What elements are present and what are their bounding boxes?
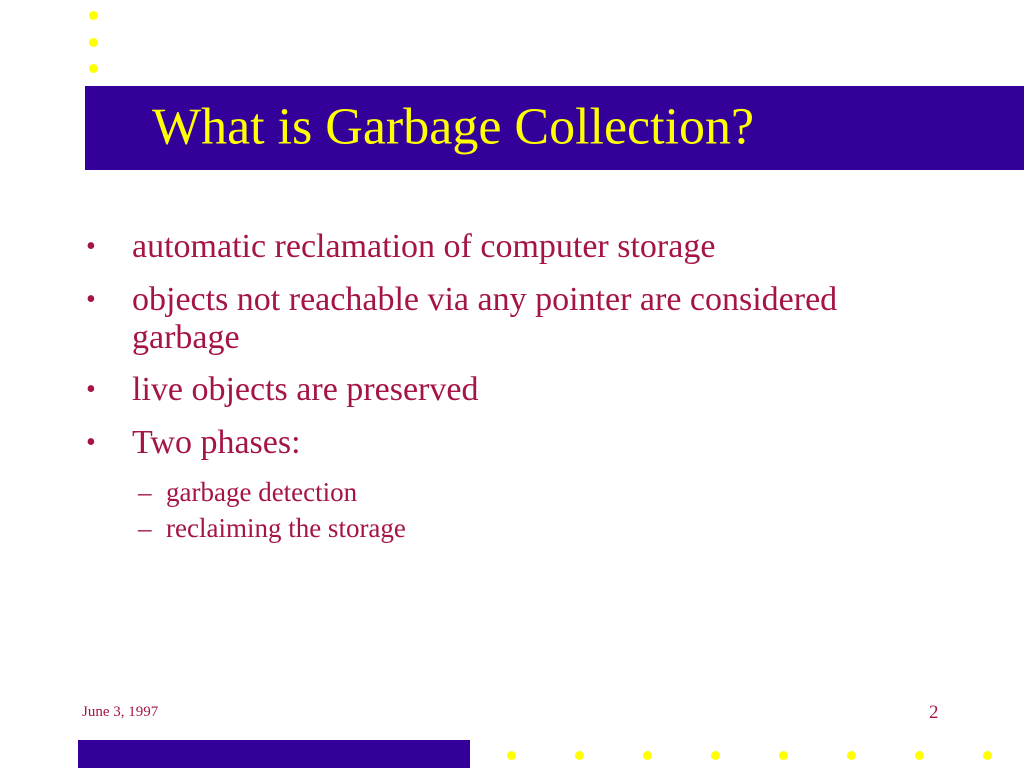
- decorative-dot-icon: [575, 751, 584, 760]
- bullet-item: • Two phases:: [78, 424, 978, 463]
- decorative-dot-icon: [89, 64, 98, 73]
- sub-bullet-text: garbage detection: [166, 477, 357, 508]
- decorative-dot-icon: [847, 751, 856, 760]
- slide-body: • automatic reclamation of computer stor…: [78, 228, 978, 549]
- bullet-item: • live objects are preserved: [78, 371, 978, 410]
- bullet-text: live objects are preserved: [132, 371, 912, 409]
- dash-marker-icon: –: [138, 477, 166, 508]
- title-band: What is Garbage Collection?: [85, 86, 1024, 170]
- decorative-dot-icon: [711, 751, 720, 760]
- footer-accent-bar: [78, 740, 470, 768]
- sub-bullet-item: – reclaiming the storage: [138, 513, 978, 544]
- sub-bullet-item: – garbage detection: [138, 477, 978, 508]
- decorative-dot-icon: [779, 751, 788, 760]
- footer-page-number: 2: [929, 703, 939, 722]
- bullet-marker-icon: •: [78, 424, 132, 463]
- decorative-dot-icon: [643, 751, 652, 760]
- bullet-text: Two phases:: [132, 424, 912, 462]
- decorative-dot-icon: [89, 38, 98, 47]
- bullet-text: objects not reachable via any pointer ar…: [132, 281, 912, 358]
- bullet-item: • objects not reachable via any pointer …: [78, 281, 978, 358]
- decorative-dot-icon: [507, 751, 516, 760]
- slide-title: What is Garbage Collection?: [152, 101, 754, 156]
- dash-marker-icon: –: [138, 513, 166, 544]
- decorative-dot-icon: [983, 751, 992, 760]
- bullet-item: • automatic reclamation of computer stor…: [78, 228, 978, 267]
- sub-bullet-text: reclaiming the storage: [166, 513, 406, 544]
- bullet-marker-icon: •: [78, 281, 132, 320]
- footer-date: June 3, 1997: [82, 705, 158, 720]
- slide-canvas: What is Garbage Collection? • automatic …: [0, 0, 1024, 768]
- decorative-dot-icon: [89, 11, 98, 20]
- bullet-text: automatic reclamation of computer storag…: [132, 228, 912, 266]
- bullet-marker-icon: •: [78, 371, 132, 410]
- bullet-marker-icon: •: [78, 228, 132, 267]
- sub-bullet-list: – garbage detection – reclaiming the sto…: [78, 477, 978, 544]
- decorative-dot-icon: [915, 751, 924, 760]
